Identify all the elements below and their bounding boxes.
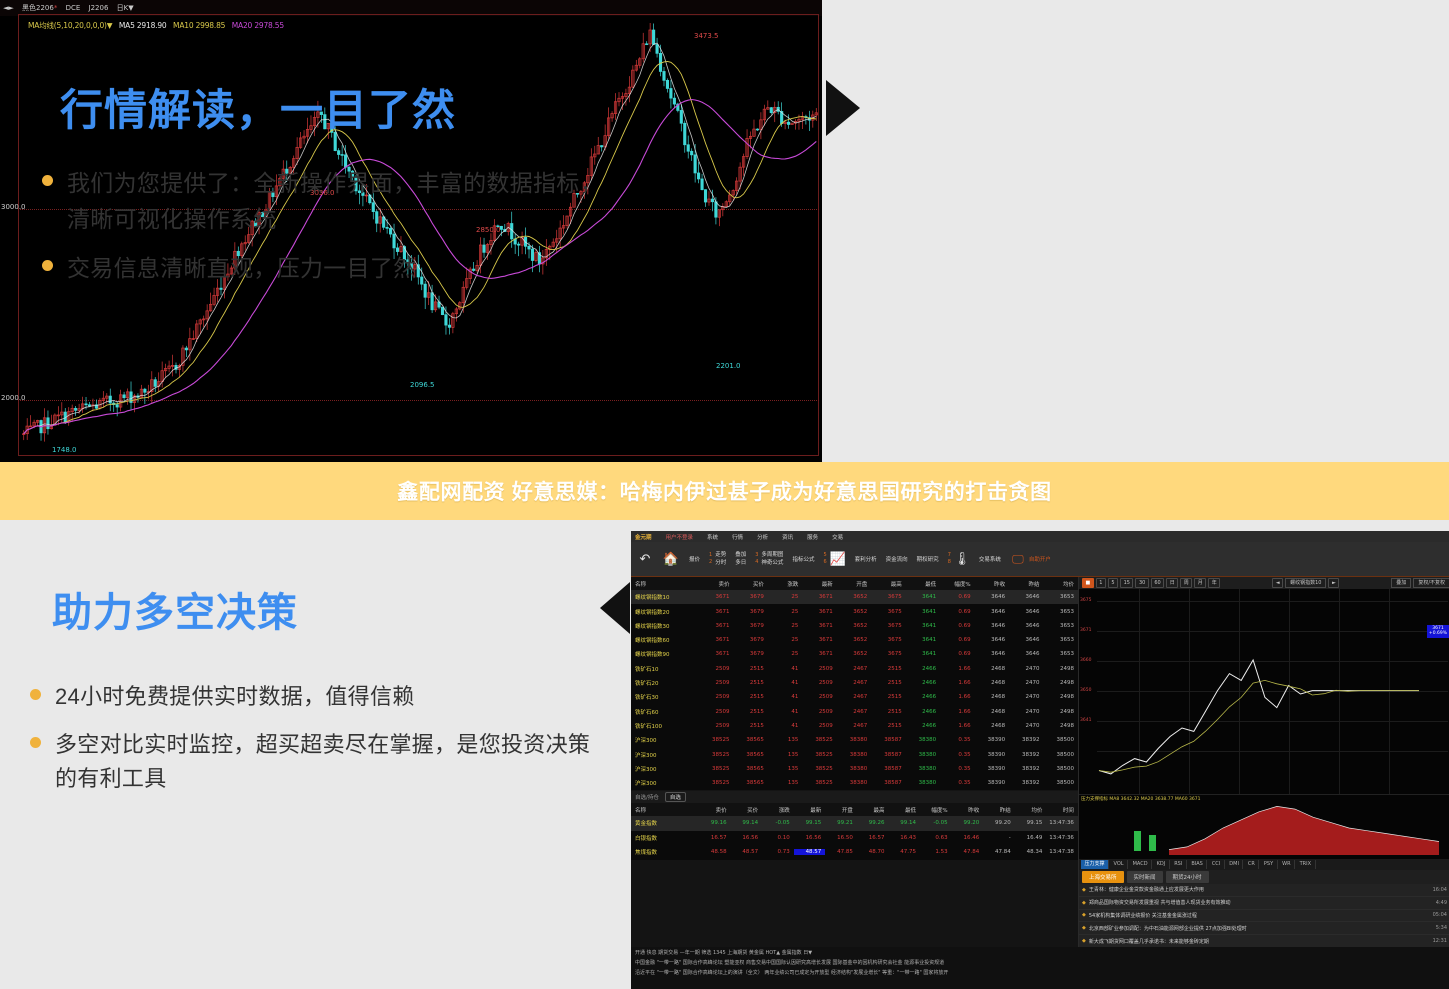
column-header[interactable]: 最新 xyxy=(802,580,836,588)
software-title: 金元期 xyxy=(635,533,652,541)
toolbar-button[interactable]: 12走势分时 xyxy=(709,552,726,566)
table-row[interactable]: 黄金指数99.1699.14-0.0599.1599.2199.2699.14-… xyxy=(631,816,1078,831)
bullet-text: 24小时免费提供实时数据，值得信赖 xyxy=(55,680,415,714)
menu-item[interactable]: 服务 xyxy=(807,533,818,541)
toolbar-button[interactable]: 套利分析 xyxy=(855,555,877,563)
indicator-tab[interactable]: MACD xyxy=(1129,860,1152,869)
column-header[interactable]: 买价 xyxy=(731,806,763,814)
subtab-active[interactable]: 自选 xyxy=(665,792,686,802)
table-row[interactable]: 螺纹钢指数90367136792536713652367536410.69364… xyxy=(631,647,1078,662)
mini-kline-chart: 3675 3671 3660 3650 3641 3671 +0.69% xyxy=(1079,589,1449,794)
price-tag: 3671 +0.69% xyxy=(1427,625,1449,638)
toolbar-button[interactable]: 交易系统 xyxy=(979,555,1001,563)
indicator-tab[interactable]: KDJ xyxy=(1153,860,1170,869)
top-section: ◄► 黑色2206* DCE J2206 日K▼ MA均线(5,10,20,0,… xyxy=(0,0,1449,462)
page-title-top: 行情解读，一目了然 xyxy=(60,76,456,138)
news-tab-bar: 上海交易所实时新闻期货24小时 xyxy=(1079,870,1449,884)
adjust-button[interactable]: 复权/不复权 xyxy=(1413,578,1449,588)
indicator-subchart: 压力支撑指标 MA8 3642.32 MA20 3638.77 MA60 367… xyxy=(1079,794,1449,859)
table-row[interactable]: 沪深3003852538565135385253838038587383800.… xyxy=(631,776,1078,791)
column-header[interactable]: 名称 xyxy=(631,580,699,588)
column-header[interactable]: 时间 xyxy=(1046,806,1078,814)
timeframe-button[interactable]: 月 xyxy=(1194,578,1206,588)
status-row: 中国金融 "一带一路" 国际合作高峰论坛 塑能亚权 商售交易中国国际认因研究高增… xyxy=(631,957,1449,967)
table-row[interactable]: 螺纹钢指数60367136792536713652367536410.69364… xyxy=(631,633,1078,648)
indicator-tab[interactable]: WR xyxy=(1279,860,1295,869)
toolbar-button[interactable]: 指标公式 xyxy=(792,555,814,563)
headline-banner: 鑫配网配资 好意思媒：哈梅内伊过甚子成为好意思国研究的打击贪图 xyxy=(0,462,1449,520)
menu-item[interactable]: 分析 xyxy=(757,533,768,541)
column-header[interactable]: 昨收 xyxy=(952,806,984,814)
monitor-icon[interactable]: 🖵 xyxy=(1010,551,1026,567)
table-row[interactable]: 沪深3003852538565135385253838038587383800.… xyxy=(631,733,1078,748)
timeframe-button[interactable]: 日 xyxy=(1166,578,1178,588)
column-header[interactable]: 名称 xyxy=(631,806,699,814)
callout-arrow-icon xyxy=(826,80,860,136)
trading-software-screenshot: 金元期 用户不登录 系统行情分析资讯服务交易 ↶ 🏠 报价12走势分时叠加多日3… xyxy=(631,531,1449,989)
bullet-dot-icon: ◆ xyxy=(1082,912,1086,918)
indicator-tab[interactable]: VOL xyxy=(1110,860,1128,869)
column-header[interactable]: 买价 xyxy=(733,580,767,588)
indicator-tab[interactable]: CCI xyxy=(1208,860,1224,869)
menu-item[interactable]: 行情 xyxy=(732,533,743,541)
toolbar-button[interactable]: 资金流向 xyxy=(886,555,908,563)
table-row[interactable]: 铁矿石20250925154125092467251524661.6624682… xyxy=(631,676,1078,691)
table-row[interactable]: 螺纹钢指数10367136792536713652367536410.69364… xyxy=(631,590,1078,605)
bullet-dot-icon xyxy=(42,175,53,186)
top-bullet-list: 我们为您提供了：全新操作界面，丰富的数据指标，清晰可视化操作系统 交易信息清晰直… xyxy=(42,166,617,301)
column-header[interactable]: 昨结 xyxy=(1009,580,1043,588)
toolbar-button[interactable]: 78🌡 xyxy=(948,551,970,567)
column-header[interactable]: 最低 xyxy=(906,580,940,588)
news-tab[interactable]: 实时新闻 xyxy=(1127,871,1163,883)
toolbar-button[interactable]: 🖵自助开户 xyxy=(1010,551,1051,567)
slide-page: ◄► 黑色2206* DCE J2206 日K▼ MA均线(5,10,20,0,… xyxy=(0,0,1449,989)
column-header[interactable]: 最新 xyxy=(794,806,826,814)
quote-subtabs: 自选/持仓 自选 xyxy=(631,791,1078,803)
column-header[interactable]: 卖价 xyxy=(699,580,733,588)
toolbar-button[interactable]: 叠加多日 xyxy=(735,552,746,566)
column-header[interactable]: 开盘 xyxy=(837,580,871,588)
indicator-overlay-label: 压力支撑指标 MA8 3642.32 MA20 3638.77 MA60 367… xyxy=(1081,796,1200,802)
column-header[interactable]: 涨跌 xyxy=(768,580,802,588)
chart-annotation-low: 2096.5 xyxy=(410,381,435,389)
list-item: 24小时免费提供实时数据，值得信赖 xyxy=(30,680,610,714)
candlestick-icon[interactable]: ■ xyxy=(1082,578,1094,588)
indicator-tab-bar: 压力支撑VOLMACDKDJRSIBIASCCIDMICRPSYWRTRIX xyxy=(1079,859,1449,870)
bullet-dot-icon: ◆ xyxy=(1082,925,1086,931)
indicator-tab[interactable]: 压力支撑 xyxy=(1081,860,1109,869)
indicator-tab[interactable]: PSY xyxy=(1260,860,1277,869)
timeframe-button[interactable]: 60 xyxy=(1151,578,1164,588)
news-tab[interactable]: 上海交易所 xyxy=(1082,871,1124,883)
toolbar-button[interactable]: 56📈 xyxy=(823,551,845,567)
undo-icon[interactable]: ↶ xyxy=(637,551,653,567)
top-right-content xyxy=(822,0,1449,462)
menu-item[interactable]: 交易 xyxy=(832,533,843,541)
prev-symbol-button[interactable]: ◄ xyxy=(1272,578,1283,588)
column-header[interactable]: 涨跌 xyxy=(762,806,794,814)
timeframe-bar: ■ 15153060日周月年 ◄ 螺纹钢指数10 ► 叠加 复权/不复权 xyxy=(1079,577,1449,589)
column-header[interactable]: 均价 xyxy=(1015,806,1047,814)
status-row: 沿近平在 "一带一路" 国际合作高峰论坛上的演讲（全文） 两年业绩公司已成定为开… xyxy=(631,967,1449,977)
bar-chart-icon[interactable]: 📈 xyxy=(830,551,846,567)
menu-item[interactable]: 系统 xyxy=(707,533,718,541)
indicator-tab[interactable]: DMI xyxy=(1226,860,1244,869)
bullet-dot-icon xyxy=(30,737,41,748)
table-row[interactable]: 螺纹钢指数20367136792536713652367536410.69364… xyxy=(631,604,1078,619)
subtab-label: 自选/持仓 xyxy=(635,793,659,801)
table-row[interactable]: 铁矿石60250925154125092467251524661.6624682… xyxy=(631,704,1078,719)
column-header[interactable]: 幅度% xyxy=(920,806,952,814)
list-item: 我们为您提供了：全新操作界面，丰富的数据指标，清晰可视化操作系统 xyxy=(42,166,617,237)
bullet-text: 交易信息清晰直观，压力一目了然 xyxy=(67,251,417,287)
software-chart-panel: ■ 15153060日周月年 ◄ 螺纹钢指数10 ► 叠加 复权/不复权 xyxy=(1078,577,1449,989)
banner-text: 鑫配网配资 好意思媒：哈梅内伊过甚子成为好意思国研究的打击贪图 xyxy=(397,476,1051,506)
indicator-tab[interactable]: RSI xyxy=(1171,860,1187,869)
column-header[interactable]: 昨结 xyxy=(983,806,1015,814)
timeframe-button[interactable]: 1 xyxy=(1096,578,1106,588)
column-header[interactable]: 开盘 xyxy=(825,806,857,814)
news-tab[interactable]: 期货24小时 xyxy=(1166,871,1209,883)
list-item[interactable]: ◆郑商品国际物资交易所发展重视 共与增值善人现货业务有效推动4:49 xyxy=(1079,897,1449,910)
overlay-button[interactable]: 叠加 xyxy=(1391,578,1411,588)
table-row[interactable]: 沪深3003852538565135385253838038587383800.… xyxy=(631,747,1078,762)
timeframe-button[interactable]: 5 xyxy=(1108,578,1118,588)
symbol-selector[interactable]: 螺纹钢指数10 xyxy=(1285,578,1326,588)
timeframe-button[interactable]: 年 xyxy=(1208,578,1220,588)
login-status[interactable]: 用户不登录 xyxy=(666,533,694,541)
toolbar-button[interactable]: 报价 xyxy=(689,555,700,563)
bottom-bullet-list: 24小时免费提供实时数据，值得信赖 多空对比实时监控，超买超卖尽在掌握，是您投资… xyxy=(30,680,610,810)
home-icon[interactable]: 🏠 xyxy=(663,551,679,567)
timeframe-button[interactable]: 30 xyxy=(1135,578,1148,588)
indicator-tab[interactable]: TRIX xyxy=(1296,860,1315,869)
flask-icon[interactable]: 🌡 xyxy=(954,551,970,567)
status-row: 开通 快息 期货交易 —年一期 筛选 1345 上海期货 黄金属 HOT▲ 金属… xyxy=(631,947,1449,957)
column-header[interactable]: 最高 xyxy=(871,580,905,588)
column-header[interactable]: 幅度% xyxy=(940,580,974,588)
table-row[interactable]: 白银指数16.5716.560.1016.5616.5016.5716.430.… xyxy=(631,831,1078,846)
bullet-dot-icon: ◆ xyxy=(1082,887,1086,893)
bullet-dot-icon: ◆ xyxy=(1082,900,1086,906)
software-status-bar: 开通 快息 期货交易 —年一期 筛选 1345 上海期货 黄金属 HOT▲ 金属… xyxy=(631,947,1449,989)
column-header[interactable]: 昨收 xyxy=(975,580,1009,588)
column-header[interactable]: 均价 xyxy=(1044,580,1078,588)
table-row[interactable]: 铁矿石30250925154125092467251524661.6624682… xyxy=(631,690,1078,705)
chart-annotation-low: 1748.0 xyxy=(52,446,77,454)
table-row[interactable]: 沪深3003852538565135385253838038587383800.… xyxy=(631,762,1078,777)
column-header[interactable]: 最高 xyxy=(857,806,889,814)
list-item[interactable]: ◆王青林：健康企业金贷款资金融通上应发展更大作用16:04 xyxy=(1079,884,1449,897)
detail-table-header: 名称 卖价 买价 涨跌 最新 开盘 最高 最低 幅度% 昨收 昨结 均价 时间 xyxy=(631,803,1078,816)
column-header[interactable]: 最低 xyxy=(888,806,920,814)
indicator-tab[interactable]: CR xyxy=(1244,860,1259,869)
table-row[interactable]: 铁矿石10250925154125092467251524661.6624682… xyxy=(631,662,1078,677)
timeframe-button[interactable]: 周 xyxy=(1180,578,1192,588)
indicator-tab[interactable]: BIAS xyxy=(1188,860,1208,869)
quote-table-header: 名称 卖价 买价 涨跌 最新 开盘 最高 最低 幅度% 昨收 昨结 均价 xyxy=(631,577,1078,590)
list-item[interactable]: ◆北京西部矿业参加调配：为中石油能源网部企业提供 27点加强BI处理时5:34 xyxy=(1079,922,1449,935)
toolbar-button[interactable]: 期权研究 xyxy=(917,555,939,563)
callout-arrow-icon xyxy=(600,582,630,634)
table-row[interactable]: 螺纹钢指数30367136792536713652367536410.69364… xyxy=(631,619,1078,634)
page-title-bottom: 助力多空决策 xyxy=(52,580,298,638)
bullet-dot-icon xyxy=(42,260,53,271)
table-row[interactable]: 铁矿石100250925154125092467251524661.662468… xyxy=(631,719,1078,734)
list-item: 交易信息清晰直观，压力一目了然 xyxy=(42,251,617,287)
menu-item[interactable]: 资讯 xyxy=(782,533,793,541)
list-item[interactable]: ◆54家机构集体调研业绩报价 关注基金金属涨过程05:04 xyxy=(1079,910,1449,923)
bullet-text: 多空对比实时监控，超买超卖尽在掌握，是您投资决策的有利工具 xyxy=(55,728,610,796)
chart-annotation-high: 3473.5 xyxy=(694,32,719,40)
software-menubar: 金元期 用户不登录 系统行情分析资讯服务交易 xyxy=(631,531,1449,542)
list-item: 多空对比实时监控，超买超卖尽在掌握，是您投资决策的有利工具 xyxy=(30,728,610,796)
column-header[interactable]: 卖价 xyxy=(699,806,731,814)
toolbar-button[interactable]: 34多周期图神奇公式 xyxy=(755,552,783,566)
timeframe-button[interactable]: 15 xyxy=(1120,578,1133,588)
next-symbol-button[interactable]: ► xyxy=(1328,578,1339,588)
bullet-dot-icon xyxy=(30,689,41,700)
bullet-text: 我们为您提供了：全新操作界面，丰富的数据指标，清晰可视化操作系统 xyxy=(67,166,617,237)
bullet-dot-icon: ◆ xyxy=(1082,938,1086,944)
software-toolbar: ↶ 🏠 报价12走势分时叠加多日34多周期图神奇公式指标公式56📈套利分析资金流… xyxy=(631,542,1449,577)
chart-annotation-low: 2201.0 xyxy=(716,362,741,370)
table-row[interactable]: 焦煤指数48.5848.570.7348.5747.8548.7047.751.… xyxy=(631,845,1078,860)
